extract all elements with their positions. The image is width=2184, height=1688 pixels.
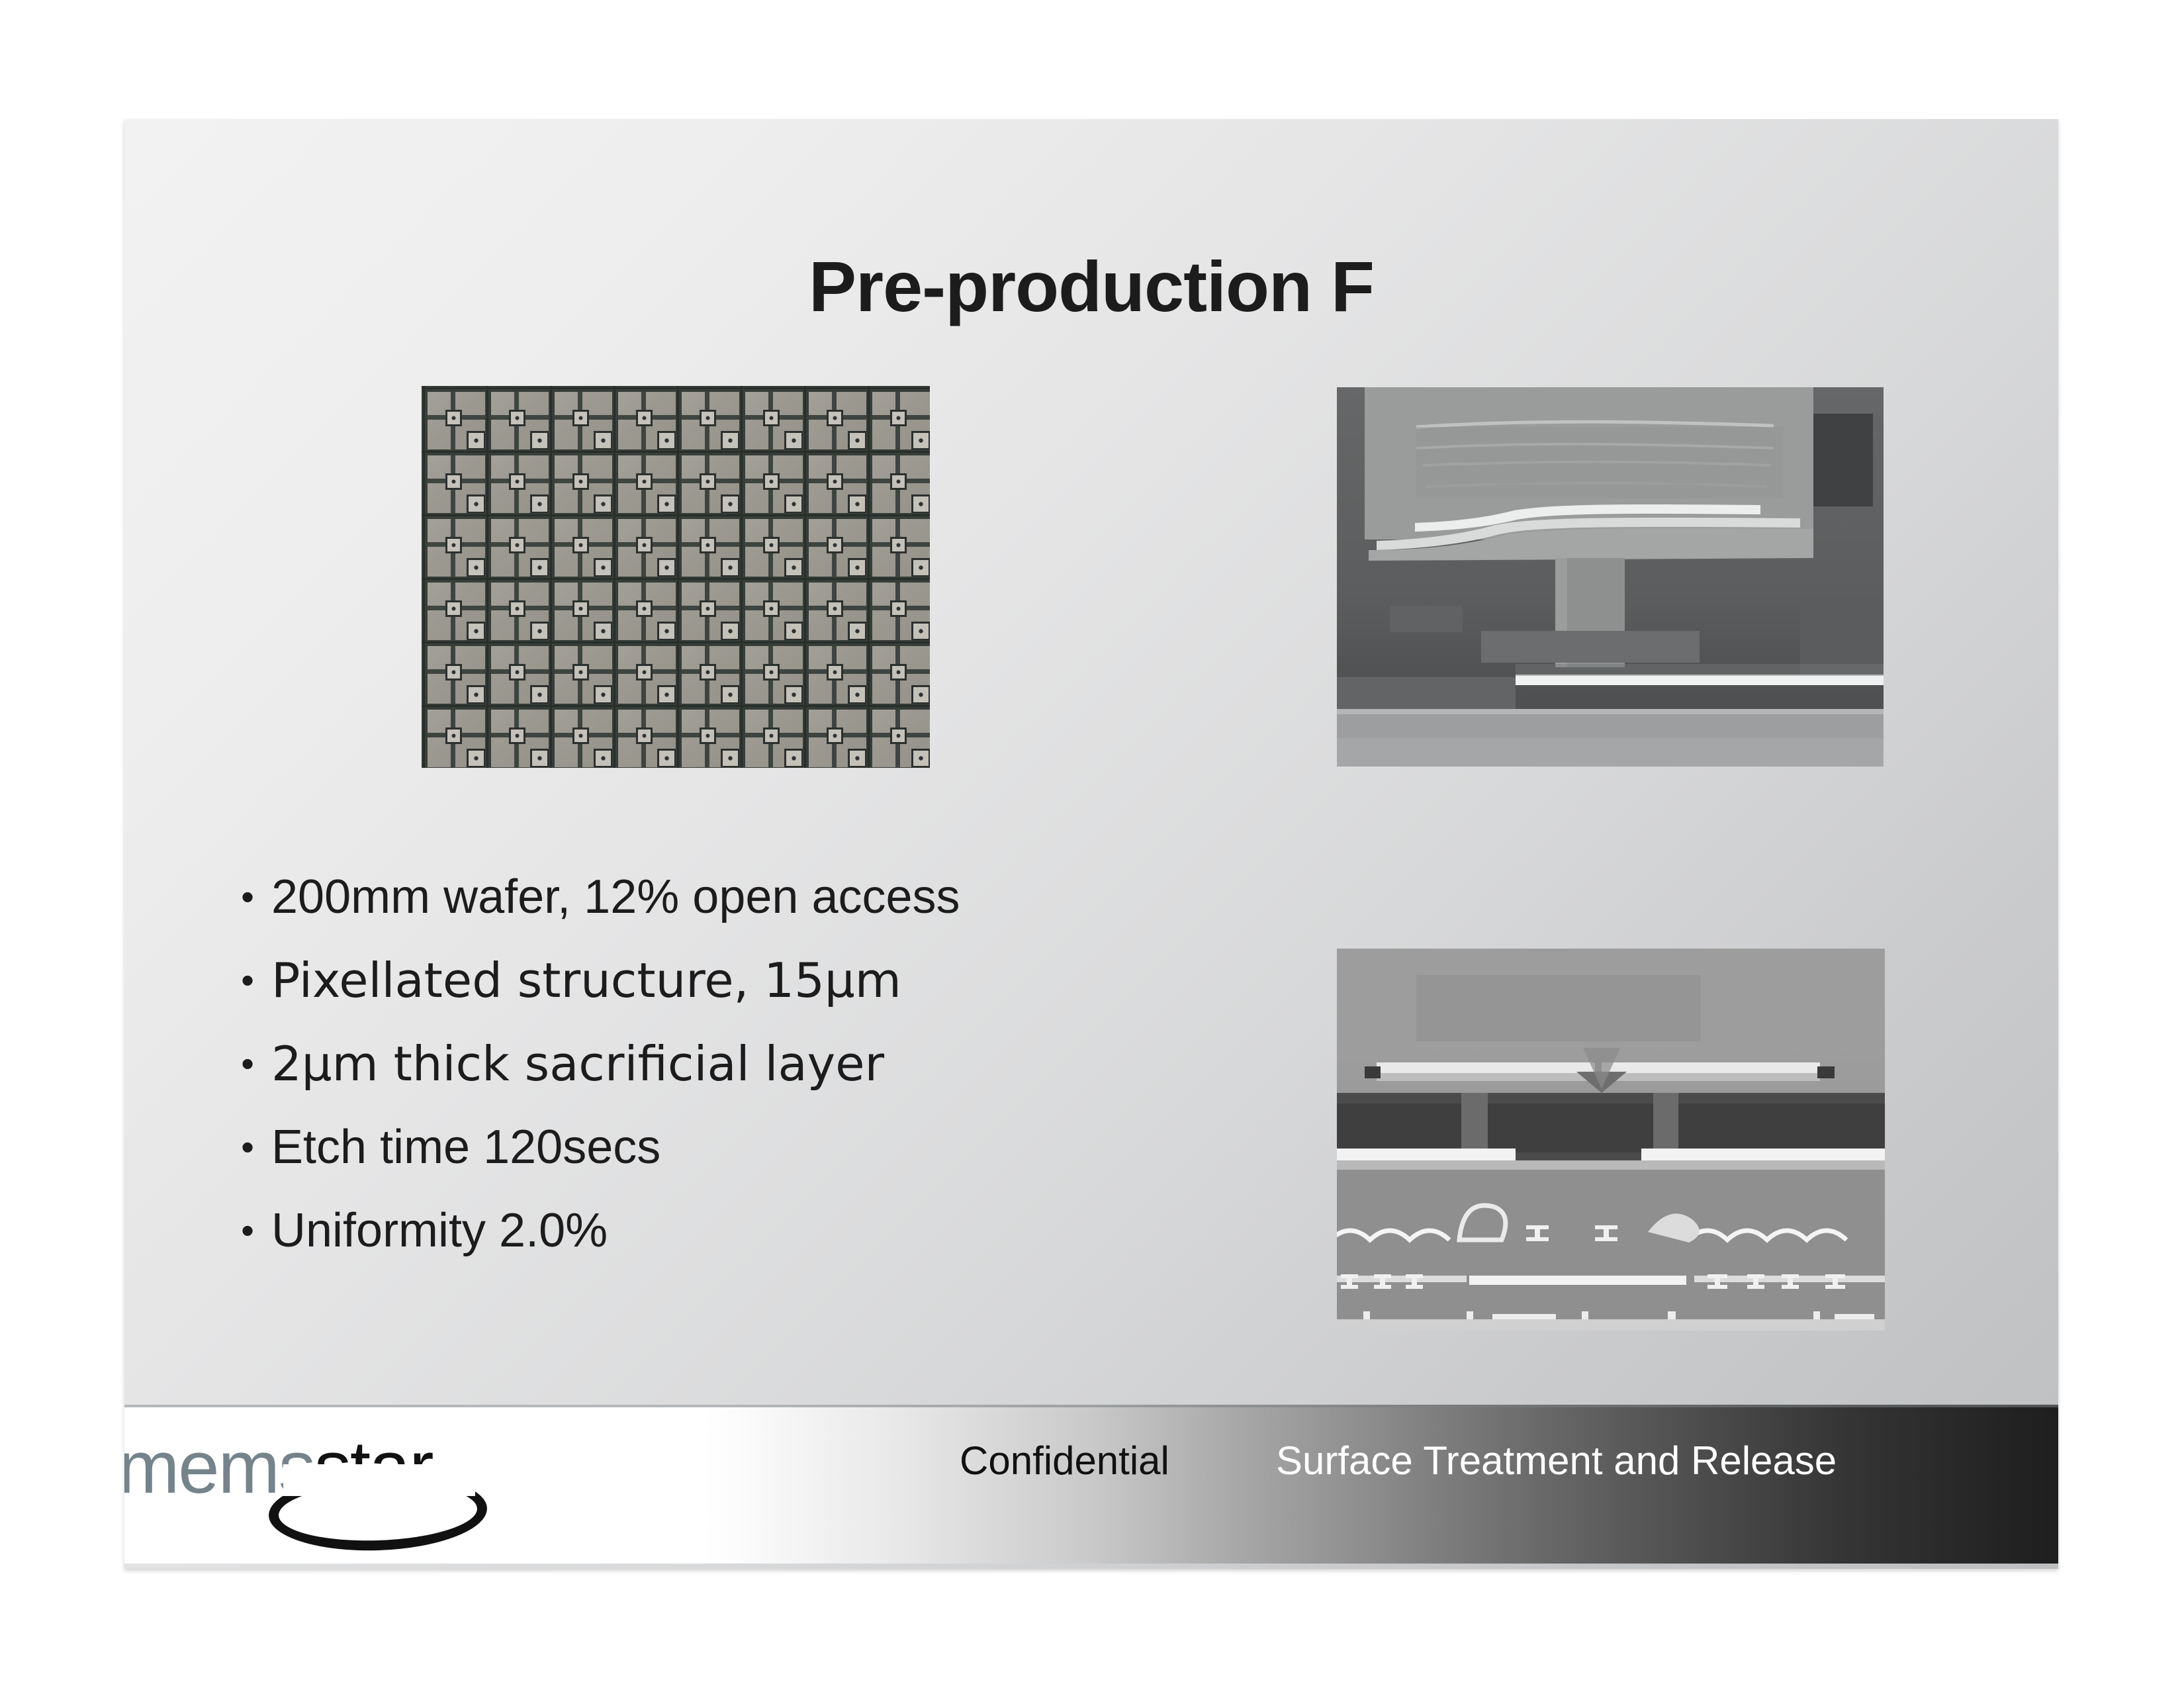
confidentiality-label: Confidential: [960, 1438, 1169, 1483]
memsstar-logo: memsstar: [124, 1425, 515, 1540]
list-item: • Uniformity 2.0%: [224, 1197, 1362, 1270]
list-item: • 200mm wafer, 12% open access: [224, 864, 1362, 937]
bullet-marker-icon: •: [224, 1031, 271, 1097]
bullet-marker-icon: •: [224, 1197, 271, 1264]
bullet-marker-icon: •: [224, 864, 271, 930]
slide-footer: memsstar Confidential Surface Treatment …: [124, 1405, 2058, 1564]
list-item: • Pixellated structure, 15μm: [224, 947, 1362, 1020]
bullet-text: Etch time 120secs: [271, 1114, 660, 1180]
footer-subject-label: Surface Treatment and Release: [1276, 1438, 1837, 1483]
sem-bottom-image: [1337, 949, 1885, 1331]
footer-divider: [124, 1405, 2058, 1407]
slide-canvas: Pre-production F: [124, 119, 2058, 1569]
pixel-array-image: [422, 386, 930, 768]
bullet-marker-icon: •: [224, 1114, 271, 1180]
bullet-text: 200mm wafer, 12% open access: [271, 864, 960, 930]
logo-ring-mask: [283, 1464, 475, 1496]
bullet-text: Uniformity 2.0%: [271, 1197, 608, 1264]
bullet-text: 2μm thick sacrificial layer: [271, 1031, 884, 1097]
pixel-array-micrograph: [422, 386, 930, 768]
sem-cross-section-released-membrane: [1337, 387, 1884, 767]
bullet-list: • 200mm wafer, 12% open access • Pixella…: [224, 864, 1362, 1281]
sem-cross-section-device-stack: [1337, 949, 1885, 1331]
list-item: • 2μm thick sacrificial layer: [224, 1031, 1362, 1103]
list-item: • Etch time 120secs: [224, 1114, 1362, 1187]
bullet-marker-icon: •: [224, 947, 271, 1013]
sem-top-image: [1337, 387, 1884, 767]
bullet-text: Pixellated structure, 15μm: [271, 947, 901, 1013]
page-title: Pre-production F: [124, 245, 2058, 328]
